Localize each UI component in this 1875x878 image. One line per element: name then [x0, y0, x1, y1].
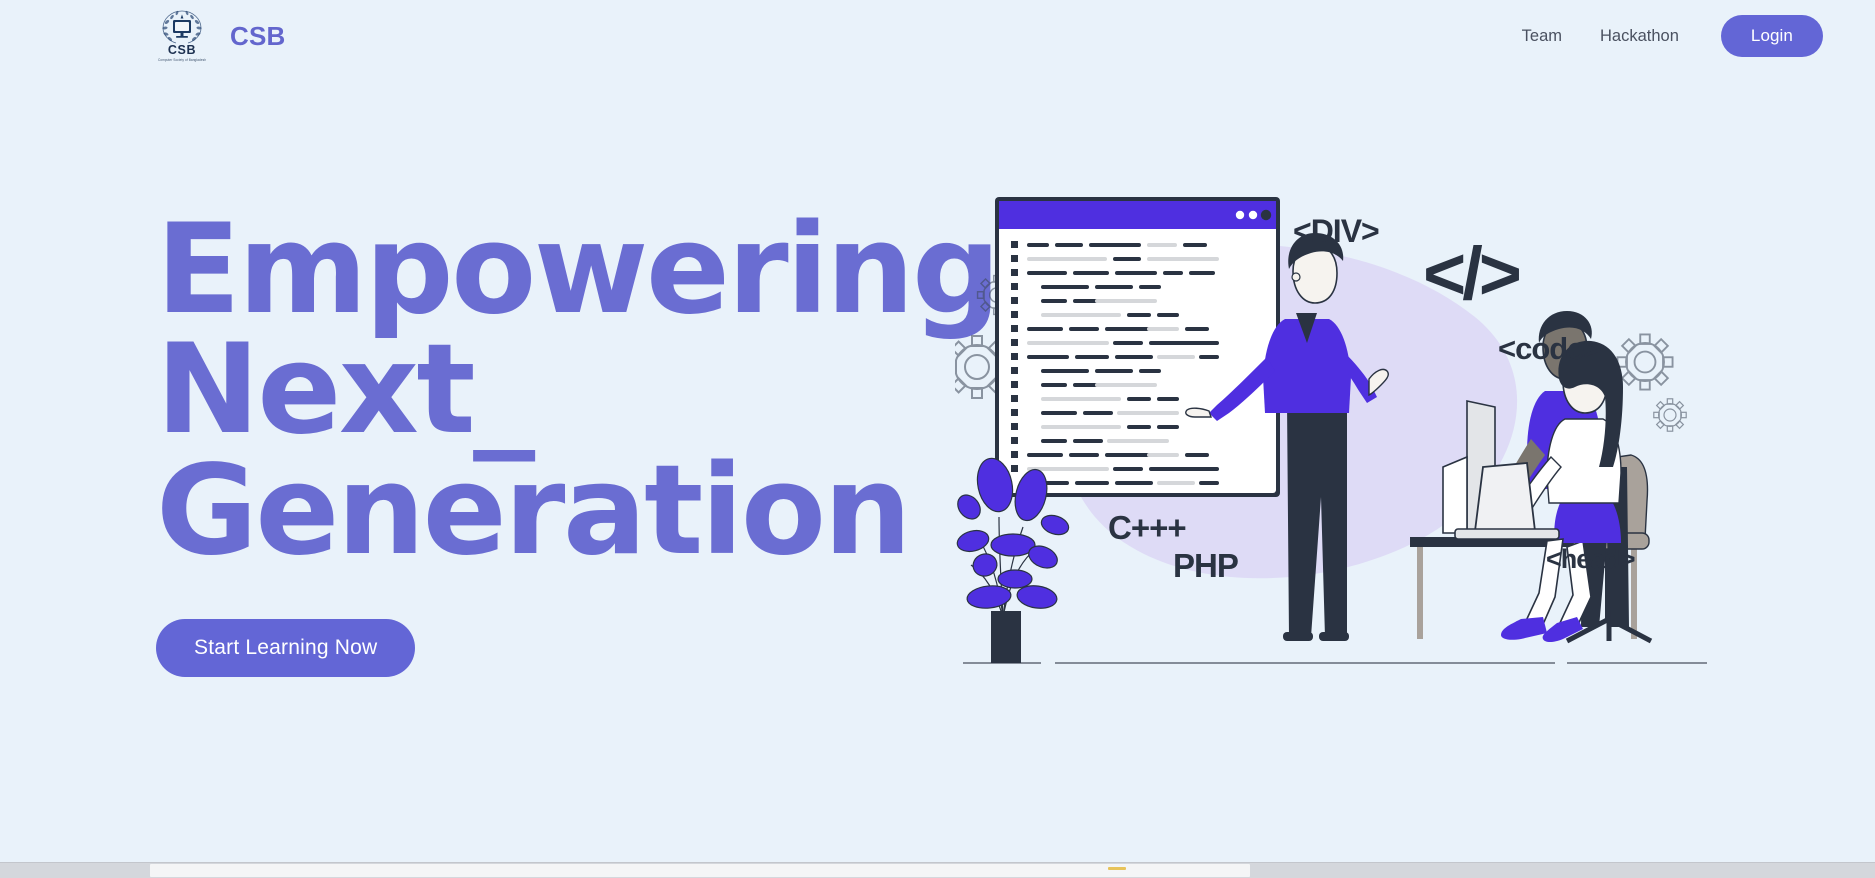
- hero-section: Empowering Next_ Generation Start Learni…: [0, 72, 1875, 862]
- scrollbar-marker: [1108, 867, 1126, 870]
- page-surface: CSB Computer Society of Bangladesh CSB T…: [0, 0, 1875, 862]
- hero-copy: Empowering Next_ Generation Start Learni…: [156, 210, 916, 677]
- tag-php: PHP: [1173, 547, 1238, 584]
- nav-link-team[interactable]: Team: [1514, 21, 1570, 52]
- gear-icon: [1617, 334, 1686, 431]
- tag-cpp: C+++: [1108, 509, 1186, 546]
- tag-head: <head>: [1546, 544, 1635, 574]
- primary-nav: Team Hackathon Login: [1514, 15, 1823, 57]
- tag-code: <code>: [1498, 331, 1601, 366]
- brand-name: CSB: [230, 21, 286, 52]
- site-header: CSB Computer Society of Bangladesh CSB T…: [0, 0, 1875, 72]
- scrollbar-thumb[interactable]: [150, 864, 1250, 877]
- code-window: [995, 197, 1280, 497]
- window-dot: [1236, 211, 1244, 219]
- brand[interactable]: CSB Computer Society of Bangladesh CSB: [156, 8, 286, 64]
- crest-subtitle: Computer Society of Bangladesh: [158, 58, 206, 62]
- window-dot: [1261, 210, 1271, 220]
- headline-line-3: Generation: [156, 451, 916, 571]
- programming-team-illustration: <DIV> </> <code> C+++ PHP <head>: [955, 167, 1715, 677]
- tag-div: <DIV>: [1293, 213, 1379, 249]
- window-dot: [1249, 211, 1257, 219]
- start-learning-button[interactable]: Start Learning Now: [156, 619, 415, 677]
- login-button[interactable]: Login: [1721, 15, 1823, 57]
- tag-slash: </>: [1423, 232, 1520, 315]
- page-title: Empowering Next_ Generation: [156, 210, 916, 571]
- headline-line-2: Next_: [156, 330, 916, 450]
- nav-link-hackathon[interactable]: Hackathon: [1592, 21, 1687, 52]
- csb-crest-icon: CSB Computer Society of Bangladesh: [156, 8, 208, 64]
- horizontal-scrollbar[interactable]: [0, 862, 1875, 878]
- crest-word: CSB: [168, 44, 196, 57]
- headline-line-1: Empowering: [156, 210, 916, 330]
